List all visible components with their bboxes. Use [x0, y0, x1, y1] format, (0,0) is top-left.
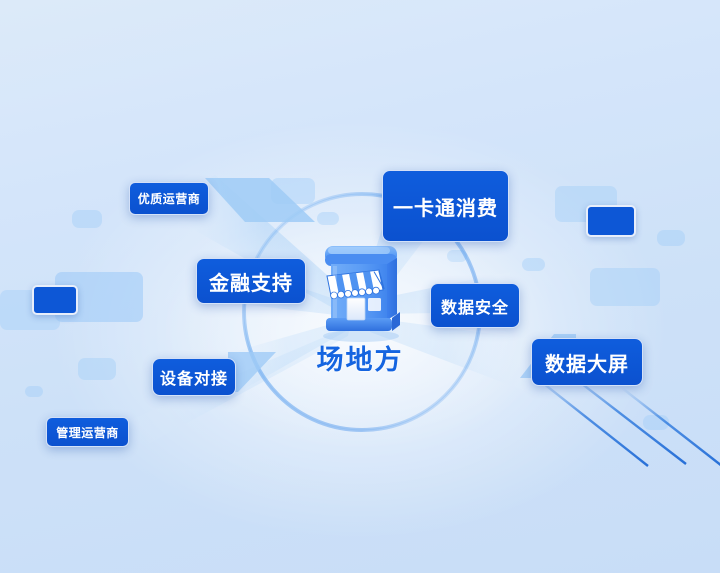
deco-card-right-edge	[522, 258, 545, 271]
deco-card-right-mid	[657, 230, 685, 246]
node-all-in-one-card[interactable]: 一卡通消费	[382, 170, 509, 242]
deco-card-top-mid	[271, 178, 315, 204]
node-device-docking[interactable]: 设备对接	[152, 358, 236, 396]
deco-accent-card-left	[32, 285, 78, 315]
infographic-canvas: 场地方 优质运营商 金融支持 一卡通消费 数据安全 数据大屏 设备对接 管理运营…	[0, 0, 720, 573]
deco-card-upper-left	[72, 210, 102, 228]
node-label-managing-operator: 管理运营商	[56, 424, 119, 441]
node-quality-operator[interactable]: 优质运营商	[129, 182, 209, 215]
deco-card-left-tiny	[25, 386, 43, 397]
deco-card-mid-small	[317, 212, 339, 225]
node-label-financial-support: 金融支持	[209, 267, 293, 296]
node-data-security[interactable]: 数据安全	[430, 283, 520, 328]
deco-card-right-small	[643, 415, 669, 430]
node-label-data-dashboard: 数据大屏	[545, 348, 629, 377]
node-label-data-security: 数据安全	[441, 294, 509, 318]
node-data-dashboard[interactable]: 数据大屏	[531, 338, 643, 386]
deco-card-right-large	[590, 268, 660, 306]
shop-storefront-icon	[305, 240, 415, 345]
deco-accent-card-right	[586, 205, 636, 237]
node-label-device-docking: 设备对接	[160, 365, 228, 389]
node-label-all-in-one-card: 一卡通消费	[393, 192, 498, 221]
diagonal-streak-lines	[526, 368, 720, 488]
node-financial-support[interactable]: 金融支持	[196, 258, 306, 304]
node-label-quality-operator: 优质运营商	[138, 190, 201, 207]
deco-card-mid-right	[447, 250, 467, 262]
node-managing-operator[interactable]: 管理运营商	[46, 417, 129, 447]
